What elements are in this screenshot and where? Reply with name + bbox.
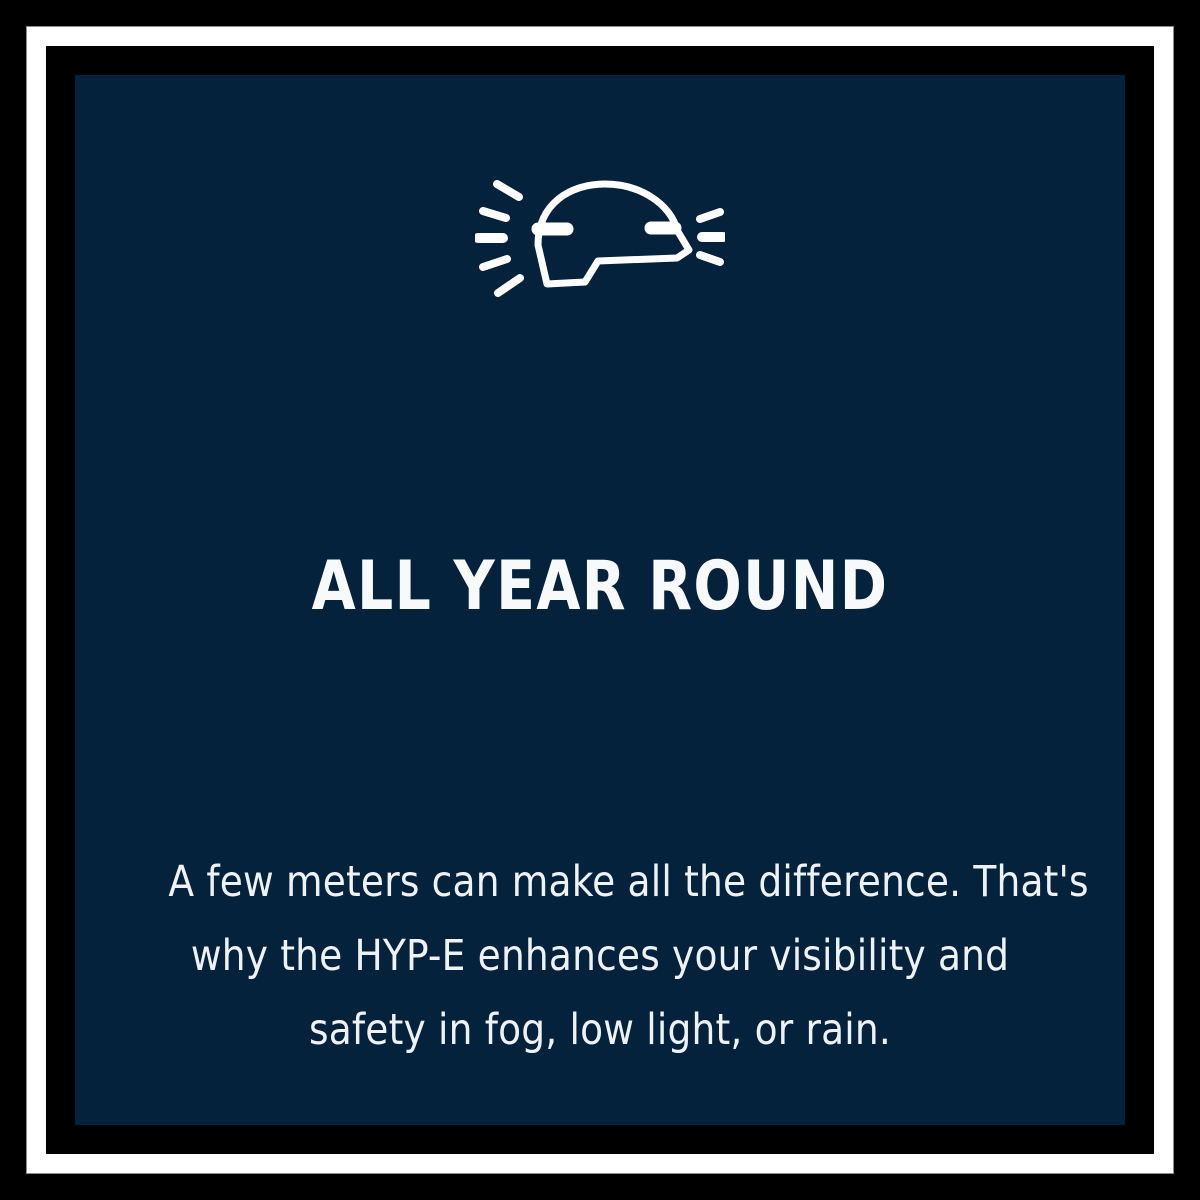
- outer-black-frame: ALL YEAR ROUND A few meters can make all…: [0, 0, 1200, 1200]
- inner-black-frame: ALL YEAR ROUND A few meters can make all…: [46, 46, 1154, 1154]
- card-title: ALL YEAR ROUND: [112, 553, 1089, 621]
- feature-card-panel: ALL YEAR ROUND A few meters can make all…: [75, 75, 1125, 1125]
- fog-light-icon: [475, 167, 725, 297]
- body-line-2: why the HYP-E enhances your visibility a…: [168, 919, 1031, 993]
- icon-container: [75, 167, 1125, 297]
- body-line-3: safety in fog, low light, or rain.: [168, 993, 1031, 1067]
- white-frame-band: ALL YEAR ROUND A few meters can make all…: [27, 27, 1173, 1173]
- body-line-1: A few meters can make all the difference…: [168, 845, 1031, 919]
- card-body-text: A few meters can make all the difference…: [168, 845, 1031, 1067]
